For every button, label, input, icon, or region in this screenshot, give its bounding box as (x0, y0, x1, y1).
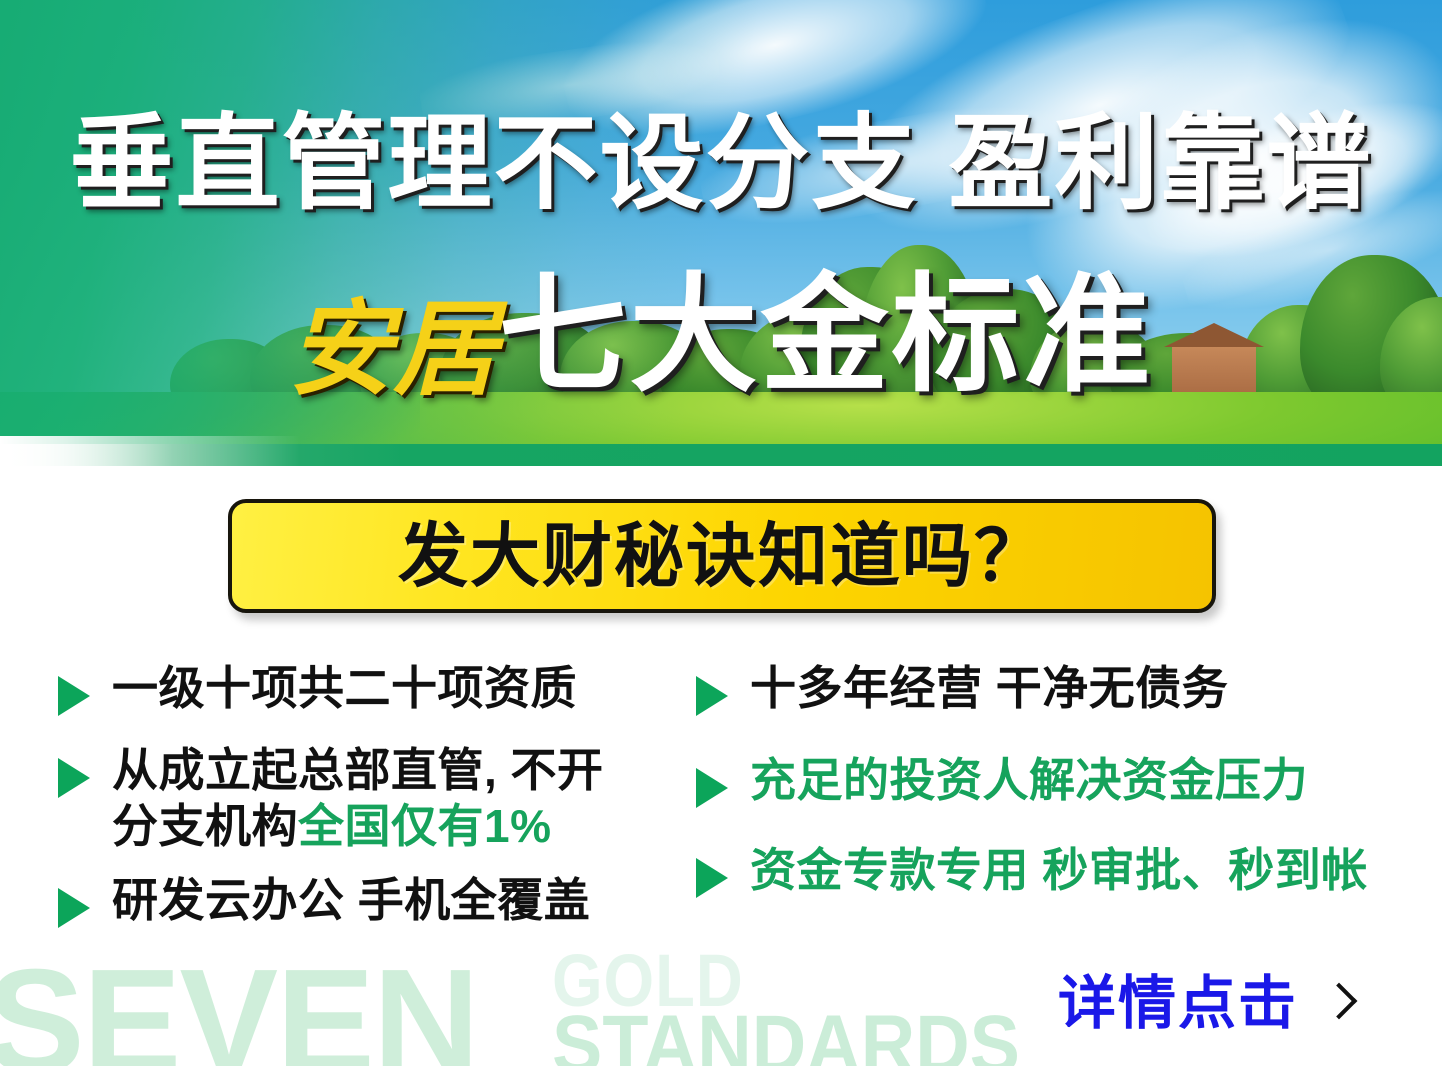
hero-brand-text: 安居 (288, 293, 498, 408)
callout-text: 发大财秘诀知道吗？ (398, 521, 1046, 591)
cta-label: 详情点击 (1058, 975, 1298, 1033)
triangle-bullet-icon (696, 858, 728, 898)
details-cta-button[interactable]: 详情点击 (1058, 975, 1348, 1033)
features-section: 一级十项共二十项资质 从成立起总部直管, 不开 分支机构全国仅有1% 研发云办公… (0, 660, 1442, 990)
chevron-right-icon (1324, 982, 1348, 1026)
triangle-bullet-icon (58, 676, 90, 716)
triangle-bullet-icon (696, 676, 728, 716)
feature-item: 资金专款专用 秒审批、秒到帐 (696, 842, 1426, 898)
features-column-right: 十多年经营 干净无债务 充足的投资人解决资金压力 资金专款专用 秒审批、秒到帐 (696, 660, 1426, 920)
feature-line-2-highlight: 全国仅有1% (298, 800, 551, 852)
hero-section: 垂直管理不设分支 盈利靠谱 安居七大金标准 (0, 0, 1442, 466)
features-column-left: 一级十项共二十项资质 从成立起总部直管, 不开 分支机构全国仅有1% 研发云办公… (58, 660, 698, 950)
triangle-bullet-icon (58, 758, 90, 798)
feature-line-2-plain: 分支机构 (112, 800, 298, 852)
hero-headline: 垂直管理不设分支 盈利靠谱 (0, 112, 1442, 216)
callout-banner[interactable]: 发大财秘诀知道吗？ (228, 499, 1216, 613)
triangle-bullet-icon (696, 768, 728, 808)
feature-text: 十多年经营 干净无债务 (750, 660, 1228, 716)
feature-item: 充足的投资人解决资金压力 (696, 752, 1426, 808)
watermark-standards: STANDARDS (552, 1004, 1020, 1066)
hero-subhead-main: 七大金标准 (499, 264, 1154, 407)
feature-text: 资金专款专用 秒审批、秒到帐 (750, 842, 1368, 898)
hero-band-fade (0, 436, 300, 466)
triangle-bullet-icon (58, 888, 90, 928)
feature-item: 研发云办公 手机全覆盖 (58, 872, 698, 928)
feature-text: 充足的投资人解决资金压力 (750, 752, 1308, 808)
feature-text: 研发云办公 手机全覆盖 (112, 872, 590, 928)
promo-banner-page: 垂直管理不设分支 盈利靠谱 安居七大金标准 发大财秘诀知道吗？ SEVEN GO… (0, 0, 1442, 1066)
feature-text: 一级十项共二十项资质 (112, 660, 577, 716)
feature-item: 一级十项共二十项资质 (58, 660, 698, 716)
feature-line-1: 从成立起总部直管, 不开 (112, 744, 604, 796)
hero-subheadline: 安居七大金标准 (0, 272, 1442, 403)
feature-item: 十多年经营 干净无债务 (696, 660, 1426, 716)
feature-text: 从成立起总部直管, 不开 分支机构全国仅有1% (112, 742, 604, 854)
feature-item: 从成立起总部直管, 不开 分支机构全国仅有1% (58, 742, 698, 854)
